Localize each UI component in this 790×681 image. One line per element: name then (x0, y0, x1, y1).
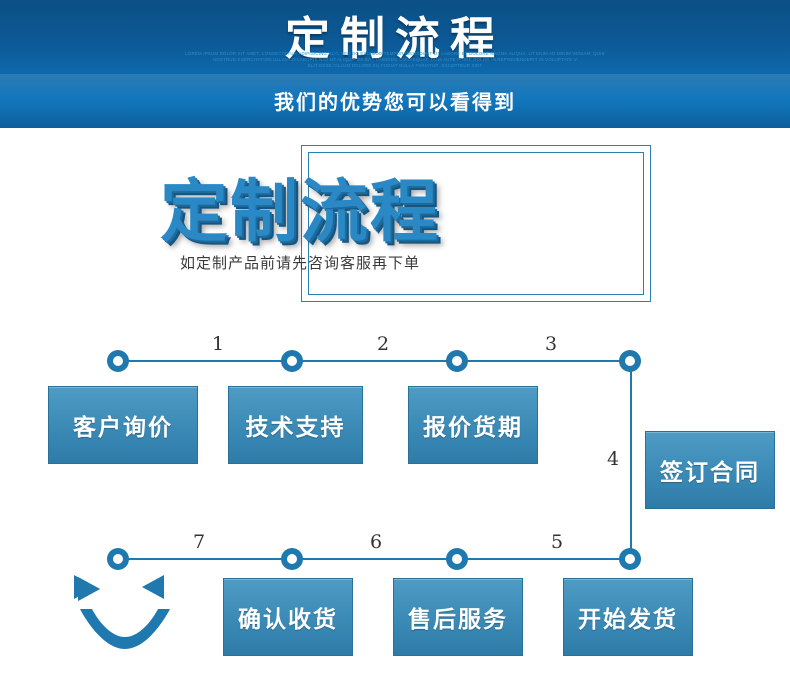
flow-number-1: 1 (212, 333, 224, 355)
flow-step-label-4: 签订合同 (660, 453, 760, 487)
flow-step-label-3: 报价货期 (423, 408, 523, 442)
flow-step-box-1[interactable]: 客户询价 (48, 386, 198, 464)
flow-node-6 (446, 548, 468, 570)
flow-step-box-4[interactable]: 签订合同 (645, 431, 775, 509)
flow-number-2: 2 (377, 333, 389, 355)
flow-step-box-2[interactable]: 技术支持 (228, 386, 363, 464)
flow-node-4 (619, 350, 641, 372)
banner-latin-text: LOREM IPSUM DOLOR SIT AMET, CONSECTETUR … (0, 51, 790, 70)
flow-diagram: 1 2 3 4 5 6 7 客户询价 技术支持 报价货期 签订合同 开始发货 售… (0, 318, 790, 681)
smiley-face-icon (70, 573, 180, 663)
flow-line-right (630, 360, 632, 560)
flow-step-label-5: 开始发货 (578, 600, 678, 634)
flow-step-box-5[interactable]: 开始发货 (563, 578, 693, 656)
banner-subtitle: 我们的优势您可以看得到 (0, 86, 790, 115)
flow-number-4: 4 (607, 448, 619, 470)
flow-node-1 (107, 350, 129, 372)
flow-node-7 (281, 548, 303, 570)
flow-line-bottom (118, 558, 632, 560)
hero-section: 定制流程 如定制产品前请先咨询客服再下单 (0, 128, 790, 318)
flow-step-label-6: 售后服务 (408, 600, 508, 634)
flow-node-2 (281, 350, 303, 372)
flow-number-3: 3 (545, 333, 557, 355)
flow-number-6: 6 (370, 531, 382, 553)
hero-note: 如定制产品前请先咨询客服再下单 (0, 252, 600, 273)
flow-number-5: 5 (551, 531, 563, 553)
flow-step-box-7[interactable]: 确认收货 (223, 578, 353, 656)
flow-line-top (118, 360, 632, 362)
flow-step-label-7: 确认收货 (238, 600, 338, 634)
flow-node-5 (619, 548, 641, 570)
flow-step-box-3[interactable]: 报价货期 (408, 386, 538, 464)
page-banner: 定制流程 LOREM IPSUM DOLOR SIT AMET, CONSECT… (0, 0, 790, 128)
customization-flow-page: 定制流程 LOREM IPSUM DOLOR SIT AMET, CONSECT… (0, 0, 790, 681)
flow-number-7: 7 (193, 531, 205, 553)
flow-step-box-6[interactable]: 售后服务 (393, 578, 523, 656)
flow-node-3 (446, 350, 468, 372)
hero-title: 定制流程 (0, 156, 600, 255)
flow-node-8 (107, 548, 129, 570)
flow-step-label-2: 技术支持 (246, 408, 346, 442)
flow-step-label-1: 客户询价 (73, 408, 173, 442)
